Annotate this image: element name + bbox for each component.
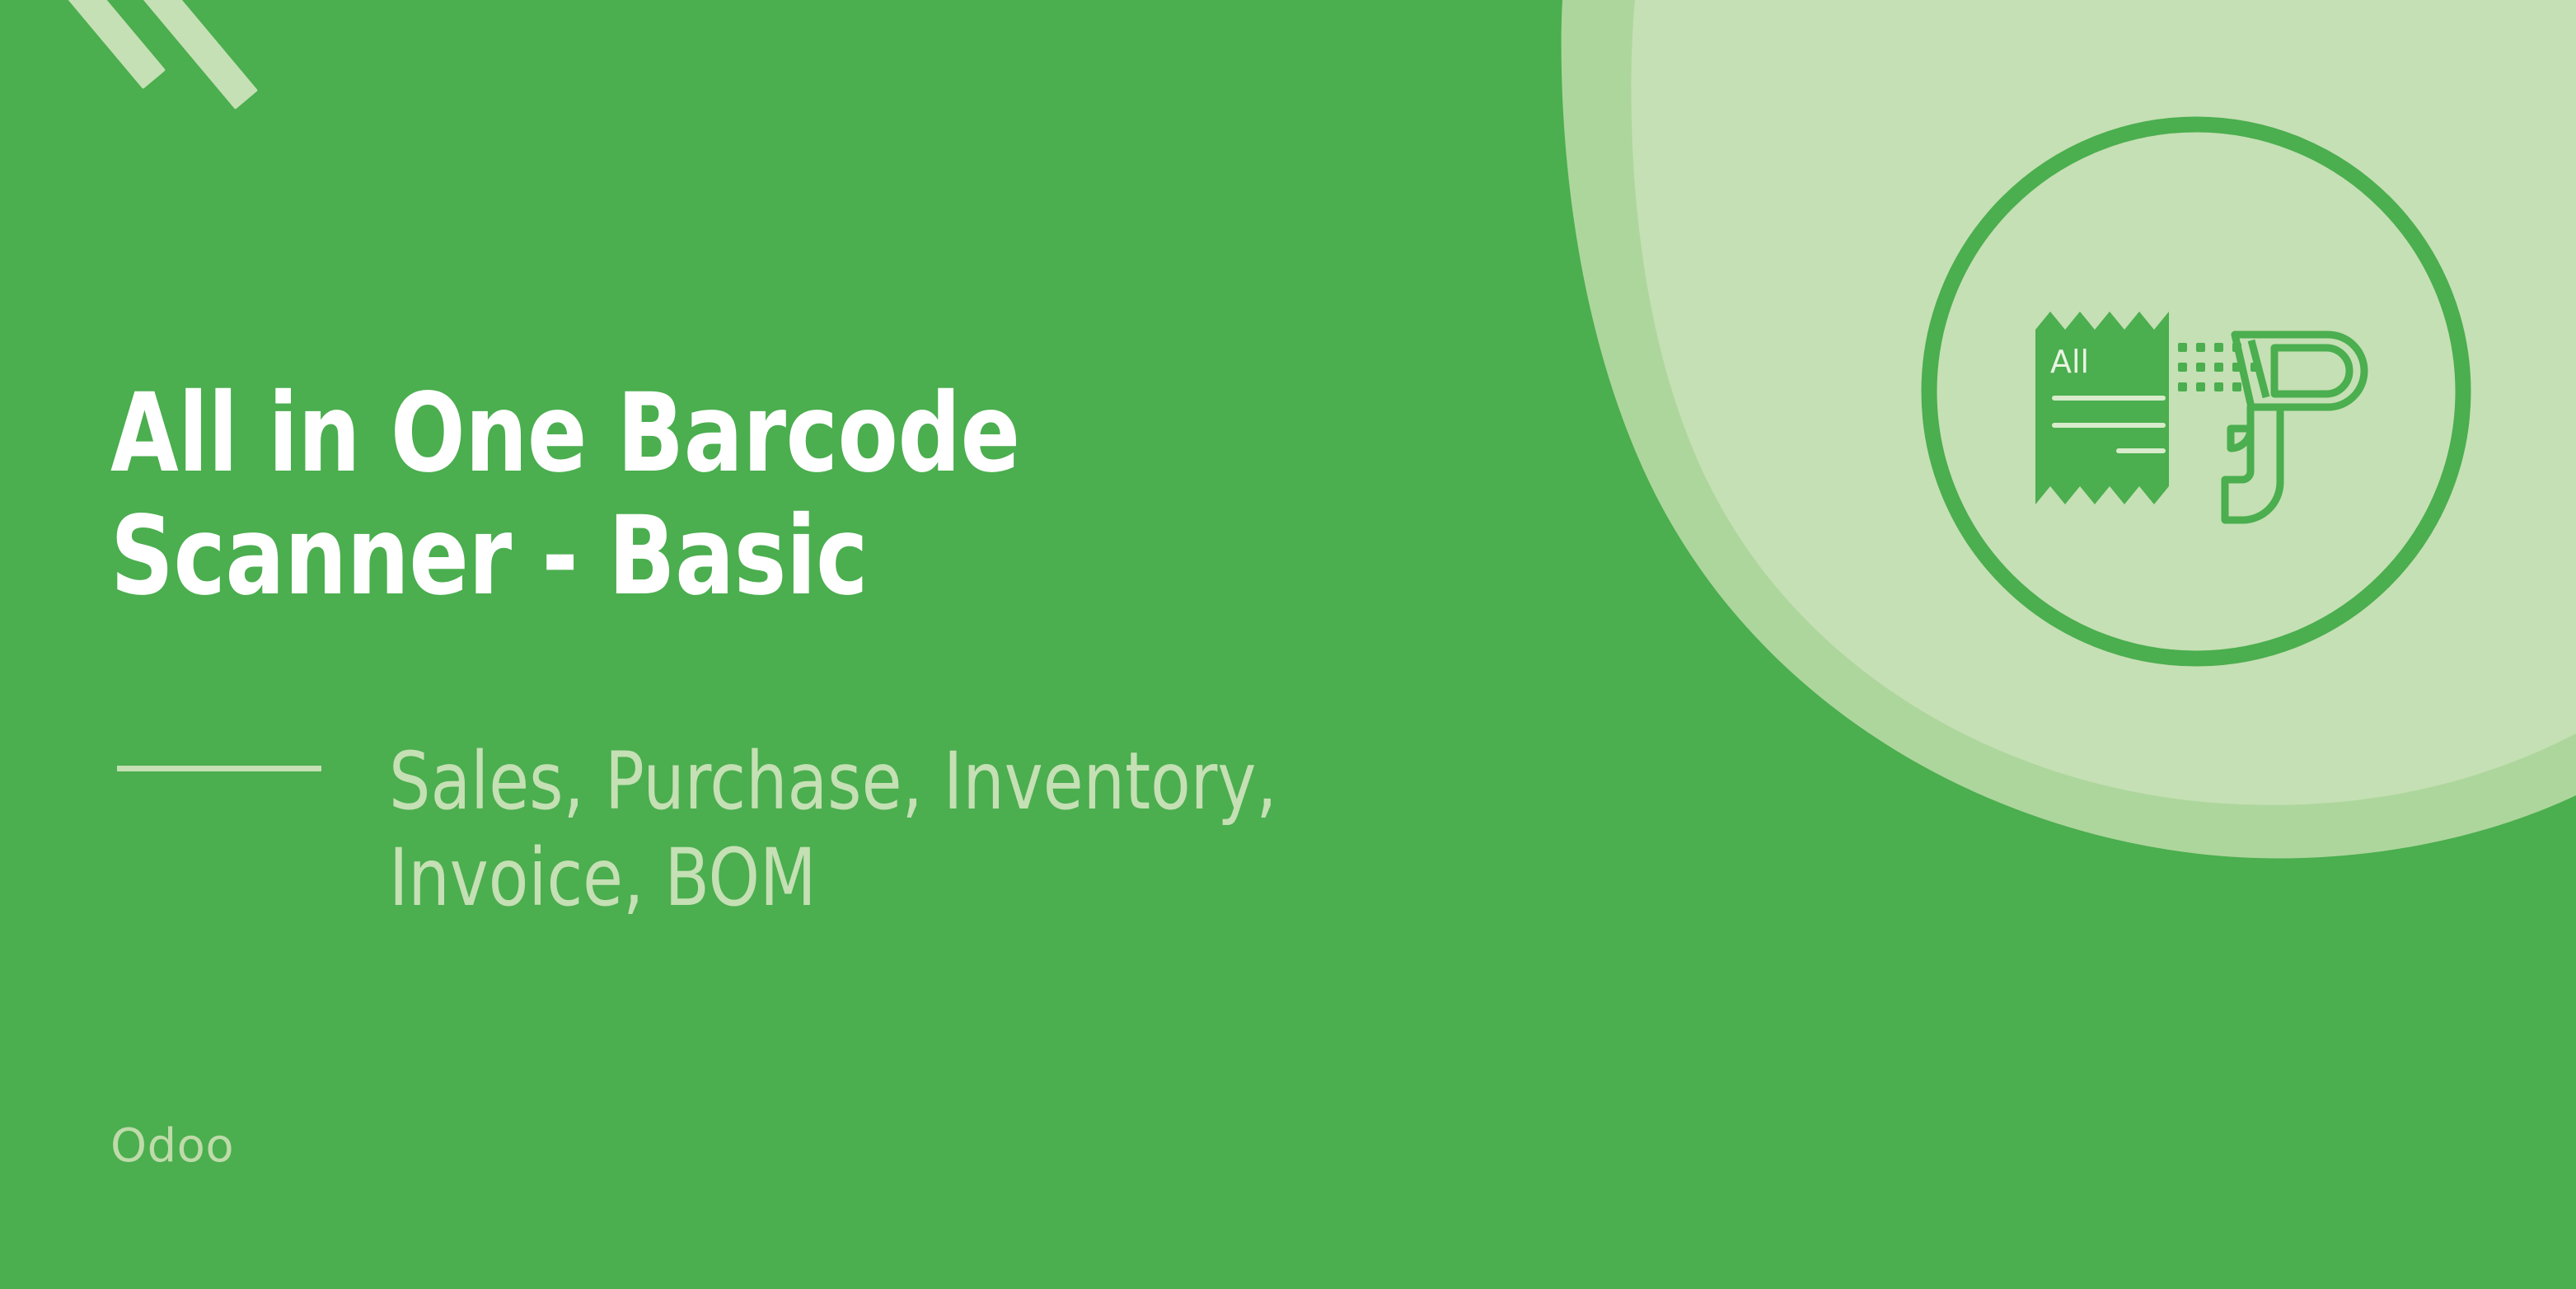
receipt-line-2 bbox=[2052, 423, 2166, 428]
receipt-icon: All bbox=[2035, 312, 2169, 504]
promo-banner: All bbox=[0, 0, 2576, 1289]
emblem-circle-icon bbox=[1929, 124, 2463, 659]
receipt-line-3 bbox=[2116, 448, 2166, 453]
barcode-scan-emblem: All bbox=[1912, 107, 2480, 676]
receipt-label: All bbox=[2050, 344, 2089, 380]
barcode-scanner-icon bbox=[2225, 335, 2364, 520]
receipt-line-1 bbox=[2052, 396, 2166, 401]
